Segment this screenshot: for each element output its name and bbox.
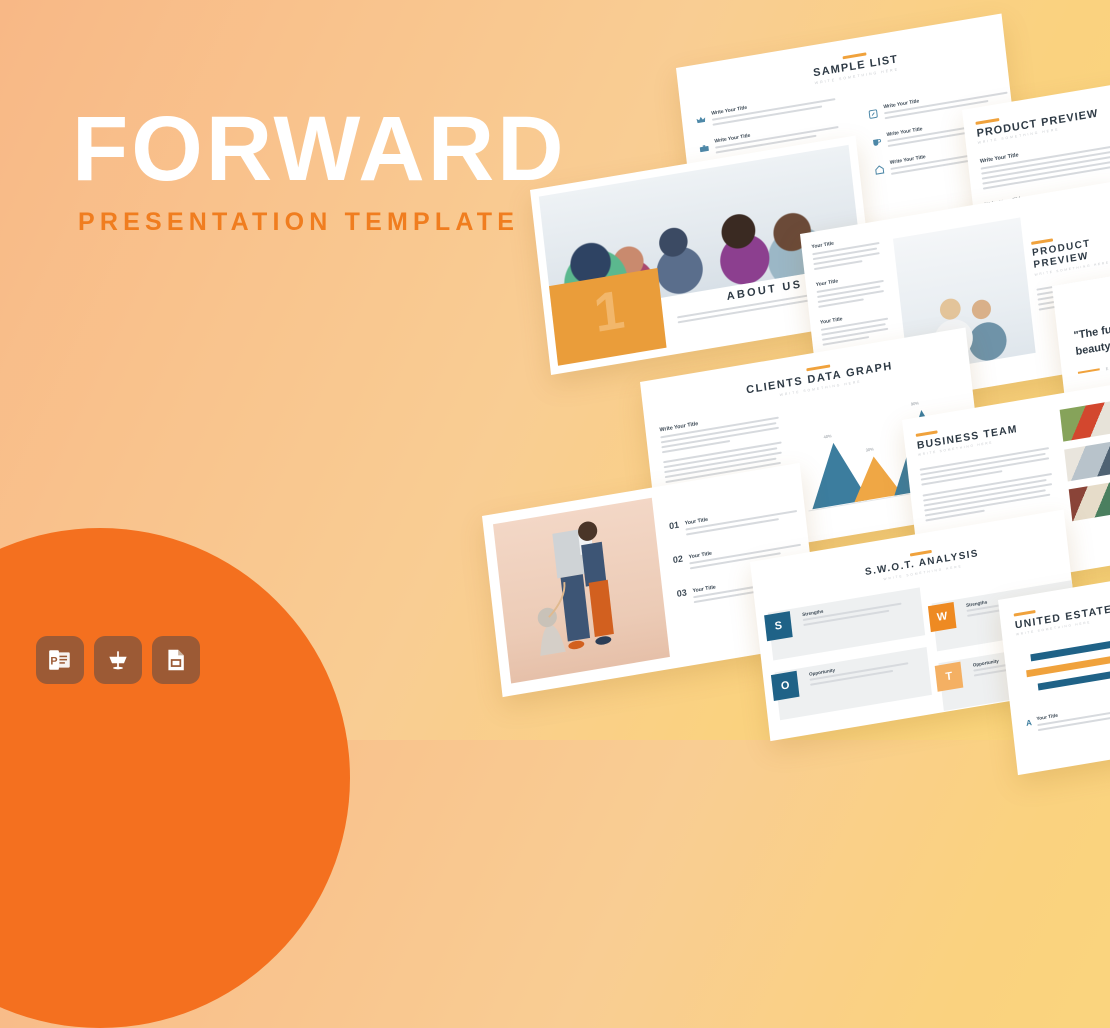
swot-item[interactable]: O Opportunity [775,647,932,720]
item-number: 01 [669,520,681,542]
google-slides-badge[interactable] [152,636,200,684]
team-member[interactable]: Scott Robertson Your Title [1060,383,1110,442]
crown-icon [695,112,707,132]
hero-text-block: FORWARD PRESENTATION TEMPLATE [72,104,567,237]
about-number-block: 1 [549,268,667,366]
illustration-graphic [493,498,670,684]
couple-dog-illustration [493,498,670,684]
about-number: 1 [591,282,627,341]
keynote-badge[interactable] [94,636,142,684]
cup-icon [871,133,883,153]
preview-item[interactable]: Your Title [816,270,892,308]
member-photo [1060,393,1110,442]
preview-item[interactable]: Your Title [811,232,887,270]
hero-title: FORWARD [72,104,567,194]
powerpoint-badge[interactable]: P [36,636,84,684]
hero-subtitle: PRESENTATION TEMPLATE [78,208,567,237]
swot-letter: O [771,671,800,701]
briefcase-icon [698,140,710,160]
format-badges: P [36,636,200,684]
svg-text:P: P [50,655,57,667]
google-slides-icon [163,647,189,673]
swot-letter: S [764,611,793,641]
swot-letter: W [928,602,957,632]
quote-author: ELEANOR ROOSEVELT [1105,354,1110,371]
quote-text: "The future belongs to those who believe… [1073,286,1110,361]
keynote-icon [105,647,131,673]
powerpoint-icon: P [47,647,73,673]
swot-item[interactable]: S Strengths [768,587,925,660]
link-icon [867,105,879,125]
home-icon [874,161,886,181]
swot-letter: T [935,662,964,692]
item-number: 02 [672,553,684,575]
item-number: 03 [676,587,688,609]
quote-rule [1078,369,1100,375]
map-legend-item[interactable]: A Your Title [1026,696,1110,736]
legend-letter: A [1026,718,1034,736]
